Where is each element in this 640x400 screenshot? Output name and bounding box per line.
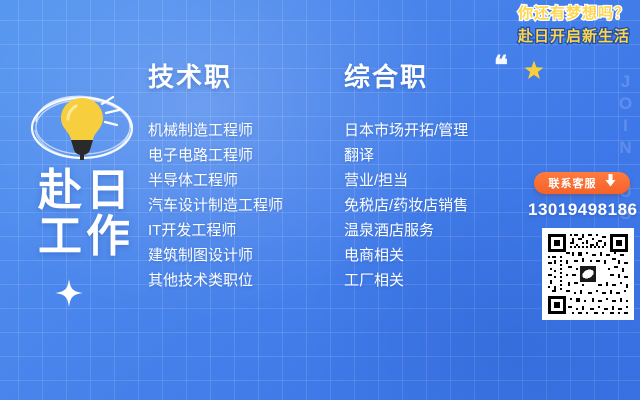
lightbulb-icon: [26, 80, 142, 172]
list-item: 电商相关: [344, 243, 529, 268]
job-list-tech: 机械制造工程师 电子电路工程师 半导体工程师 汽车设计制造工程师 IT开发工程师…: [148, 118, 328, 293]
list-item: 半导体工程师: [148, 168, 328, 193]
list-item: 电子电路工程师: [148, 143, 328, 168]
contact-service-button[interactable]: 联系客服: [534, 172, 630, 194]
job-column-general: 综合职 日本市场开拓/管理 翻译 营业/担当 免税店/药妆店销售 温泉酒店服务 …: [344, 62, 529, 293]
quote-mark-icon: ❝: [494, 56, 508, 76]
contact-button-label: 联系客服: [549, 175, 597, 191]
brand-title-line1: 赴日: [26, 168, 146, 214]
slogan-block: 你还有梦想吗？ 赴日开启新生活: [518, 4, 630, 47]
list-item: 工厂相关: [344, 268, 529, 293]
brand-title: 赴日 工作: [26, 168, 146, 260]
brand-title-line2: 工作: [26, 214, 146, 260]
arrow-down-icon: [605, 174, 616, 192]
list-item: 建筑制图设计师: [148, 243, 328, 268]
list-item: 其他技术类职位: [148, 268, 328, 293]
slogan-primary: 你还有梦想吗？: [518, 4, 630, 24]
list-item: 免税店/药妆店销售: [344, 193, 529, 218]
sparkle-icon: [54, 278, 84, 308]
qr-code-image[interactable]: [542, 228, 634, 320]
job-list-general: 日本市场开拓/管理 翻译 营业/担当 免税店/药妆店销售 温泉酒店服务 电商相关…: [344, 118, 529, 293]
slogan-secondary: 赴日开启新生活: [518, 27, 630, 47]
star-icon: [524, 60, 544, 80]
list-item: 汽车设计制造工程师: [148, 193, 328, 218]
list-item: 机械制造工程师: [148, 118, 328, 143]
list-item: IT开发工程师: [148, 218, 328, 243]
list-item: 日本市场开拓/管理: [344, 118, 529, 143]
column-heading-tech: 技术职: [148, 62, 328, 92]
job-column-tech: 技术职 机械制造工程师 电子电路工程师 半导体工程师 汽车设计制造工程师 IT开…: [148, 62, 328, 293]
contact-phone-number: 13019498186: [528, 200, 636, 220]
list-item: 营业/担当: [344, 168, 529, 193]
promo-poster: 赴日 工作 技术职 机械制造工程师 电子电路工程师 半导体工程师 汽车设计制造工…: [0, 0, 640, 400]
list-item: 翻译: [344, 143, 529, 168]
list-item: 温泉酒店服务: [344, 218, 529, 243]
